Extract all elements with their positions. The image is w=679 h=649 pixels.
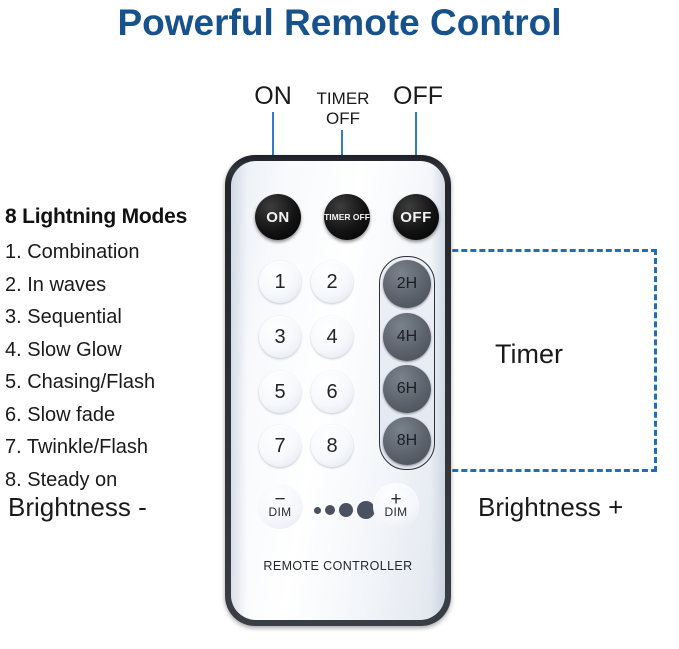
modes-list: 1. Combination 2. In waves 3. Sequential… (5, 236, 155, 496)
faceplate-highlight-left (231, 161, 247, 620)
button-timer-off[interactable]: TIMER OFF (324, 194, 370, 240)
key-7[interactable]: 7 (259, 425, 301, 467)
dim-dot-3 (339, 503, 353, 517)
callout-label-off: OFF (388, 82, 448, 111)
annotation-label-brightness-minus: Brightness - (8, 492, 147, 523)
key-4[interactable]: 4 (311, 316, 353, 358)
button-dim-minus[interactable]: − DIM (257, 483, 303, 529)
dim-level-indicator (314, 501, 375, 519)
button-timer-off-label: TIMER OFF (324, 212, 370, 222)
remote-faceplate: ON TIMER OFF OFF 1 2 3 4 5 6 7 8 2H 4H 6… (231, 161, 445, 620)
dim-plus-sign: + (390, 494, 401, 505)
list-item: 7. Twinkle/Flash (5, 431, 155, 464)
key-2[interactable]: 2 (311, 261, 353, 303)
dim-minus-label: DIM (269, 505, 292, 519)
callout-label-on: ON (243, 82, 303, 111)
remote-brand-text: REMOTE CONTROLLER (231, 559, 445, 573)
button-timer-6h[interactable]: 6H (383, 365, 431, 413)
button-timer-8h[interactable]: 8H (383, 417, 431, 465)
callout-label-timer-off: TIMER OFF (306, 89, 380, 129)
dim-minus-sign: − (274, 494, 285, 505)
button-on[interactable]: ON (255, 194, 301, 240)
button-off-label: OFF (400, 209, 432, 226)
key-1[interactable]: 1 (259, 261, 301, 303)
list-item: 5. Chasing/Flash (5, 366, 155, 399)
list-item: 4. Slow Glow (5, 334, 155, 367)
remote-control-device: ON TIMER OFF OFF 1 2 3 4 5 6 7 8 2H 4H 6… (225, 155, 451, 626)
list-item: 6. Slow fade (5, 399, 155, 432)
key-3[interactable]: 3 (259, 316, 301, 358)
callout-timer-line1: TIMER (306, 89, 380, 109)
list-item: 1. Combination (5, 236, 155, 269)
button-on-label: ON (266, 209, 290, 226)
list-item: 2. In waves (5, 269, 155, 302)
annotation-label-brightness-plus: Brightness + (478, 492, 623, 523)
dim-plus-label: DIM (385, 505, 408, 519)
annotation-label-timer: Timer (495, 339, 563, 370)
timer-button-group: 2H 4H 6H 8H (379, 256, 435, 470)
key-6[interactable]: 6 (311, 371, 353, 413)
page-title: Powerful Remote Control (0, 2, 679, 44)
key-5[interactable]: 5 (259, 371, 301, 413)
key-8[interactable]: 8 (311, 425, 353, 467)
diagram-canvas: Powerful Remote Control ON TIMER OFF OFF… (0, 0, 679, 649)
modes-heading: 8 Lightning Modes (5, 205, 187, 229)
dim-dot-1 (314, 507, 321, 514)
list-item: 3. Sequential (5, 301, 155, 334)
dim-dot-2 (325, 505, 335, 515)
button-dim-plus[interactable]: + DIM (373, 483, 419, 529)
button-timer-2h[interactable]: 2H (383, 260, 431, 308)
callout-timer-line2: OFF (306, 109, 380, 129)
button-timer-4h[interactable]: 4H (383, 313, 431, 361)
button-off[interactable]: OFF (393, 194, 439, 240)
